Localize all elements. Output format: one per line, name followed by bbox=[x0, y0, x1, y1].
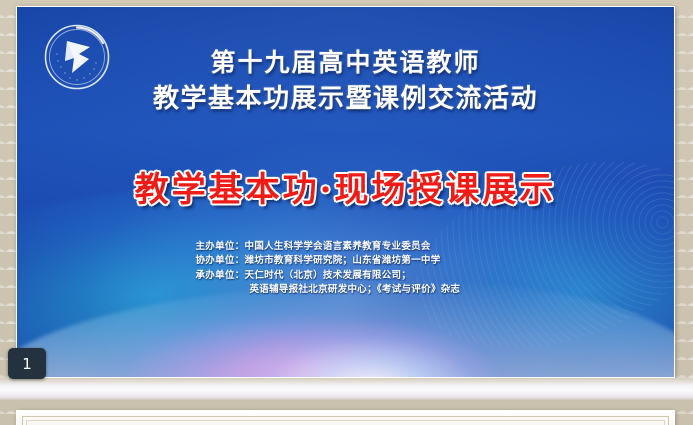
slide-1[interactable]: 第十九届高中英语教师 教学基本功展示暨课例交流活动 教学基本功·现场授课展示 主… bbox=[17, 7, 674, 377]
organizer-value-1: 中国人生科学学会语言素养教育专业委员会 bbox=[245, 241, 431, 252]
decorative-white-glow bbox=[214, 325, 529, 377]
slide-2-inner-border bbox=[26, 420, 665, 425]
slide-main-title: 第十九届高中英语教师 教学基本功展示暨课例交流活动 bbox=[17, 45, 674, 117]
organizer-credits: 主办单位：中国人生科学学会语言素养教育专业委员会 协办单位：潍坊市教育科学研究院… bbox=[17, 240, 674, 297]
organizer-line-2: 协办单位：潍坊市教育科学研究院；山东省潍坊第一中学 bbox=[196, 254, 496, 268]
organizer-label-2: 协办单位： bbox=[196, 255, 245, 266]
organizer-label-1: 主办单位： bbox=[196, 241, 245, 252]
organizer-row: 主办单位：中国人生科学学会语言素养教育专业委员会 bbox=[17, 240, 674, 254]
slide-number-badge: 1 bbox=[8, 348, 46, 379]
organizer-row: 英语辅导报社北京研发中心；《考试与评价》杂志 bbox=[17, 283, 674, 297]
main-title-line-1: 第十九届高中英语教师 bbox=[17, 45, 674, 81]
organizer-line-4: 英语辅导报社北京研发中心；《考试与评价》杂志 bbox=[196, 283, 496, 297]
organizer-value-3: 天仁时代（北京）技术发展有限公司； bbox=[245, 270, 412, 281]
page-separator bbox=[0, 378, 693, 400]
organizer-line-1: 主办单位：中国人生科学学会语言素养教育专业委员会 bbox=[196, 240, 496, 254]
slide-red-headline: 教学基本功·现场授课展示 bbox=[17, 162, 674, 211]
organizer-line-3: 承办单位：天仁时代（北京）技术发展有限公司； bbox=[196, 269, 496, 283]
presentation-viewer[interactable]: 第十九届高中英语教师 教学基本功展示暨课例交流活动 教学基本功·现场授课展示 主… bbox=[0, 0, 693, 425]
slide-2[interactable] bbox=[17, 411, 674, 425]
organizer-label-3: 承办单位： bbox=[196, 270, 245, 281]
main-title-line-2: 教学基本功展示暨课例交流活动 bbox=[17, 81, 674, 118]
organizer-row: 承办单位：天仁时代（北京）技术发展有限公司； bbox=[17, 269, 674, 283]
organizer-value-4: 英语辅导报社北京研发中心；《考试与评价》杂志 bbox=[250, 284, 461, 295]
organizer-row: 协办单位：潍坊市教育科学研究院；山东省潍坊第一中学 bbox=[17, 254, 674, 268]
organizer-value-2: 潍坊市教育科学研究院；山东省潍坊第一中学 bbox=[245, 255, 441, 266]
